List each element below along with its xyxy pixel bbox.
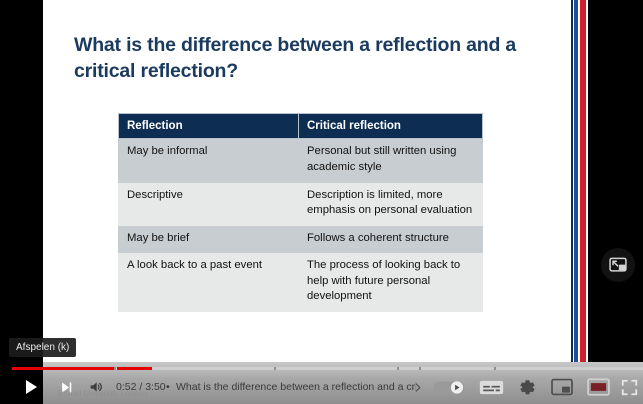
page-title: What is the difference between a reflect… — [74, 33, 544, 84]
video-area[interactable]: What is the difference between a reflect… — [0, 0, 643, 362]
miniplayer-button[interactable] — [546, 370, 578, 404]
cell-critical: The process of looking back to help with… — [299, 253, 483, 312]
cell-critical: Personal but still written using academi… — [299, 139, 483, 182]
time-display: 0:52 / 3:50 — [116, 370, 166, 404]
settings-button[interactable] — [512, 370, 542, 404]
next-track-icon — [58, 380, 75, 395]
table-row: May be informal Personal but still writt… — [119, 139, 483, 182]
fullscreen-icon — [620, 378, 639, 397]
stripe-white — [586, 0, 588, 362]
gear-icon — [518, 378, 537, 397]
presentation-slide: What is the difference between a reflect… — [43, 0, 588, 362]
play-tooltip: Afspelen (k) — [9, 338, 76, 357]
column-header-critical-reflection: Critical reflection — [299, 114, 483, 139]
table-header-row: Reflection Critical reflection — [119, 114, 483, 139]
column-header-reflection: Reflection — [119, 114, 299, 139]
chapter-title[interactable]: What is the difference between a reflect… — [176, 370, 416, 404]
subtitles-icon — [479, 379, 504, 396]
cell-reflection: Descriptive — [119, 182, 299, 225]
comparison-table: Reflection Critical reflection May be in… — [118, 113, 483, 312]
control-buttons: 0:52 / 3:50 • What is the difference bet… — [0, 370, 643, 404]
cell-reflection: May be brief — [119, 225, 299, 253]
fullscreen-button[interactable] — [615, 370, 643, 404]
play-button[interactable] — [14, 370, 48, 404]
cell-critical: Description is limited, more emphasis on… — [299, 182, 483, 225]
chevron-right-icon[interactable] — [409, 370, 425, 404]
subtitles-button[interactable] — [474, 370, 508, 404]
volume-icon — [87, 379, 105, 395]
theater-mode-button[interactable] — [583, 370, 613, 404]
table-row: May be brief Follows a coherent structur… — [119, 225, 483, 253]
theater-mode-icon — [587, 378, 610, 396]
autoplay-toggle[interactable] — [428, 370, 470, 404]
table-row: A look back to a past event The process … — [119, 253, 483, 312]
cell-critical: Follows a coherent structure — [299, 225, 483, 253]
picture-in-picture-icon[interactable] — [601, 248, 635, 282]
time-separator: • — [166, 370, 170, 404]
next-button[interactable] — [52, 370, 80, 404]
cell-reflection: A look back to a past event — [119, 253, 299, 312]
cell-reflection: May be informal — [119, 139, 299, 182]
play-icon — [26, 380, 37, 394]
video-player: What is the difference between a reflect… — [0, 0, 643, 404]
volume-button[interactable] — [82, 370, 110, 404]
table-row: Descriptive Description is limited, more… — [119, 182, 483, 225]
brand-stripes — [571, 0, 588, 362]
player-controls: 0:52 / 3:50 • What is the difference bet… — [0, 362, 643, 404]
miniplayer-icon — [551, 378, 573, 396]
